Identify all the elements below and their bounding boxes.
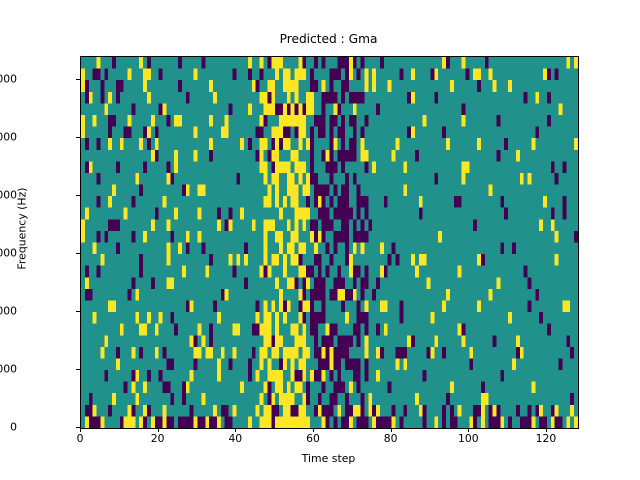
matplotlib-figure: Predicted : Gma Frequency (Hz) 020000400… — [0, 0, 640, 480]
x-axis: Time step 020406080100120 — [0, 0, 640, 480]
x-tick-mark — [158, 428, 159, 432]
x-axis-label: Time step — [80, 452, 577, 465]
x-tick-label: 0 — [77, 432, 84, 445]
x-tick-mark — [80, 428, 81, 432]
x-tick-label: 20 — [151, 432, 165, 445]
x-tick-label: 120 — [536, 432, 557, 445]
x-tick-mark — [468, 428, 469, 432]
x-tick-mark — [235, 428, 236, 432]
x-tick-mark — [391, 428, 392, 432]
x-tick-label: 80 — [384, 432, 398, 445]
x-tick-label: 100 — [458, 432, 479, 445]
x-tick-label: 60 — [306, 432, 320, 445]
x-tick-mark — [546, 428, 547, 432]
x-tick-mark — [313, 428, 314, 432]
x-tick-label: 40 — [228, 432, 242, 445]
